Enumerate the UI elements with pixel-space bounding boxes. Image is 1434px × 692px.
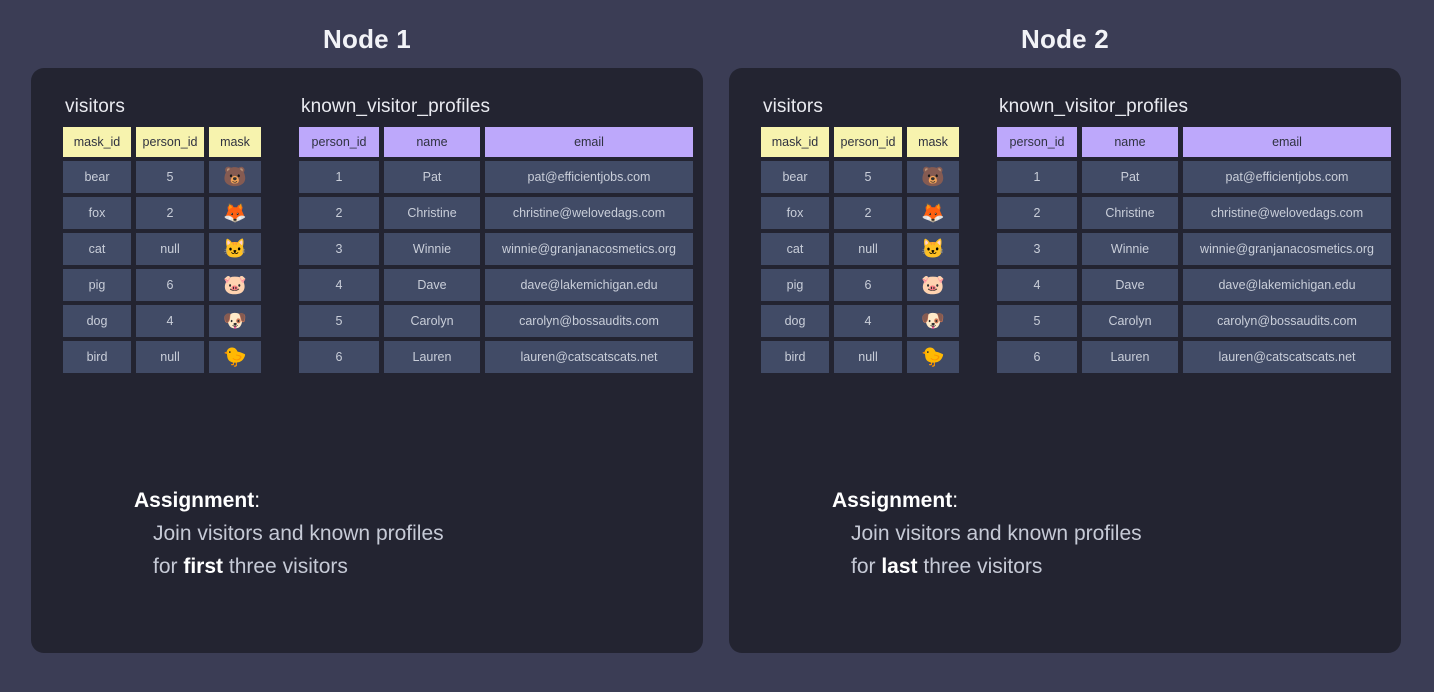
cell-name: Lauren bbox=[1082, 341, 1178, 373]
column-header-person-id: person_id bbox=[136, 127, 204, 157]
cell-mask-id: pig bbox=[761, 269, 829, 301]
cell-mask-id: bird bbox=[63, 341, 131, 373]
table-row: pig 6 🐷 bbox=[63, 269, 261, 301]
table-row: dog 4 🐶 bbox=[761, 305, 959, 337]
known-visitor-profiles-table-1: known_visitor_profiles person_id name em… bbox=[299, 96, 693, 373]
cell-email: lauren@catscatscats.net bbox=[485, 341, 693, 373]
table-row: 4 Dave dave@lakemichigan.edu bbox=[299, 269, 693, 301]
cell-mask-id: cat bbox=[761, 233, 829, 265]
cell-name: Carolyn bbox=[384, 305, 480, 337]
cell-person-id: 6 bbox=[299, 341, 379, 373]
assignment-body-2: Join visitors and known profiles for las… bbox=[832, 517, 1352, 583]
table-row: 3 Winnie winnie@granjanacosmetics.org bbox=[299, 233, 693, 265]
cat-icon: 🐱 bbox=[209, 233, 261, 265]
cell-name: Dave bbox=[384, 269, 480, 301]
assignment-heading-2: Assignment: bbox=[832, 489, 1352, 513]
dog-icon: 🐶 bbox=[209, 305, 261, 337]
cell-person-id: 5 bbox=[834, 161, 902, 193]
column-header-person-id: person_id bbox=[834, 127, 902, 157]
assignment-block-2: Assignment: Join visitors and known prof… bbox=[832, 489, 1352, 583]
assignment-heading-text: Assignment bbox=[832, 489, 952, 512]
table-row: 5 Carolyn carolyn@bossaudits.com bbox=[299, 305, 693, 337]
assignment-line2-before: for bbox=[851, 555, 881, 578]
visitors-caption-1: visitors bbox=[65, 96, 261, 118]
bird-icon: 🐤 bbox=[209, 341, 261, 373]
node-title-2: Node 2 bbox=[729, 24, 1401, 55]
cell-person-id: 6 bbox=[136, 269, 204, 301]
tables-row-1: visitors mask_id person_id mask bear 5 🐻… bbox=[63, 96, 693, 373]
table-row: 3 Winnie winnie@granjanacosmetics.org bbox=[997, 233, 1391, 265]
cell-email: dave@lakemichigan.edu bbox=[1183, 269, 1391, 301]
cell-email: lauren@catscatscats.net bbox=[1183, 341, 1391, 373]
cell-person-id: 4 bbox=[834, 305, 902, 337]
visitors-grid-2: mask_id person_id mask bear 5 🐻 fox 2 🦊 bbox=[761, 127, 959, 373]
cell-person-id: 2 bbox=[834, 197, 902, 229]
cell-person-id: null bbox=[834, 233, 902, 265]
cell-name: Carolyn bbox=[1082, 305, 1178, 337]
cell-mask-id: bear bbox=[63, 161, 131, 193]
cell-mask-id: bear bbox=[761, 161, 829, 193]
cell-name: Pat bbox=[384, 161, 480, 193]
cell-person-id: 5 bbox=[299, 305, 379, 337]
known-visitor-profiles-table-2: known_visitor_profiles person_id name em… bbox=[997, 96, 1391, 373]
visitors-table-1: visitors mask_id person_id mask bear 5 🐻… bbox=[63, 96, 261, 373]
cell-email: pat@efficientjobs.com bbox=[485, 161, 693, 193]
assignment-body-1: Join visitors and known profiles for fir… bbox=[134, 517, 654, 583]
fox-icon: 🦊 bbox=[209, 197, 261, 229]
table-row: 1 Pat pat@efficientjobs.com bbox=[997, 161, 1391, 193]
table-row: cat null 🐱 bbox=[63, 233, 261, 265]
column-header-mask: mask bbox=[209, 127, 261, 157]
cell-name: Winnie bbox=[384, 233, 480, 265]
pig-icon: 🐷 bbox=[209, 269, 261, 301]
visitors-caption-2: visitors bbox=[763, 96, 959, 118]
cell-name: Dave bbox=[1082, 269, 1178, 301]
node-panel-2: visitors mask_id person_id mask bear 5 🐻… bbox=[729, 68, 1401, 653]
node-title-1: Node 1 bbox=[31, 24, 703, 55]
table-row: fox 2 🦊 bbox=[761, 197, 959, 229]
table-row: 2 Christine christine@welovedags.com bbox=[997, 197, 1391, 229]
profiles-grid-2: person_id name email 1 Pat pat@efficient… bbox=[997, 127, 1391, 373]
assignment-line2-emphasis: last bbox=[881, 555, 917, 578]
column-header-name: name bbox=[1082, 127, 1178, 157]
profiles-caption-2: known_visitor_profiles bbox=[999, 96, 1391, 118]
column-header-email: email bbox=[1183, 127, 1391, 157]
cell-person-id: 4 bbox=[997, 269, 1077, 301]
table-header-row: mask_id person_id mask bbox=[761, 127, 959, 157]
table-row: 6 Lauren lauren@catscatscats.net bbox=[299, 341, 693, 373]
cell-email: winnie@granjanacosmetics.org bbox=[485, 233, 693, 265]
table-header-row: person_id name email bbox=[997, 127, 1391, 157]
assignment-line-1: Join visitors and known profiles bbox=[153, 517, 654, 550]
table-row: bear 5 🐻 bbox=[63, 161, 261, 193]
cell-person-id: null bbox=[136, 233, 204, 265]
cell-person-id: 3 bbox=[997, 233, 1077, 265]
cell-person-id: 6 bbox=[834, 269, 902, 301]
table-row: bear 5 🐻 bbox=[761, 161, 959, 193]
cell-mask-id: fox bbox=[63, 197, 131, 229]
diagram-canvas: Node 1 Node 2 visitors mask_id person_id… bbox=[0, 0, 1434, 692]
table-row: fox 2 🦊 bbox=[63, 197, 261, 229]
visitors-table-2: visitors mask_id person_id mask bear 5 🐻… bbox=[761, 96, 959, 373]
cell-person-id: 2 bbox=[299, 197, 379, 229]
table-header-row: mask_id person_id mask bbox=[63, 127, 261, 157]
profiles-caption-1: known_visitor_profiles bbox=[301, 96, 693, 118]
table-row: cat null 🐱 bbox=[761, 233, 959, 265]
cell-name: Christine bbox=[1082, 197, 1178, 229]
cell-name: Lauren bbox=[384, 341, 480, 373]
cell-person-id: 2 bbox=[136, 197, 204, 229]
table-row: 6 Lauren lauren@catscatscats.net bbox=[997, 341, 1391, 373]
table-row: 2 Christine christine@welovedags.com bbox=[299, 197, 693, 229]
bear-icon: 🐻 bbox=[907, 161, 959, 193]
assignment-heading-colon: : bbox=[254, 489, 260, 512]
pig-icon: 🐷 bbox=[907, 269, 959, 301]
assignment-heading-text: Assignment bbox=[134, 489, 254, 512]
cell-email: carolyn@bossaudits.com bbox=[485, 305, 693, 337]
cell-person-id: 4 bbox=[299, 269, 379, 301]
visitors-grid-1: mask_id person_id mask bear 5 🐻 fox 2 🦊 bbox=[63, 127, 261, 373]
column-header-mask: mask bbox=[907, 127, 959, 157]
column-header-email: email bbox=[485, 127, 693, 157]
cell-email: dave@lakemichigan.edu bbox=[485, 269, 693, 301]
assignment-line2-after: three visitors bbox=[918, 555, 1043, 578]
assignment-heading-colon: : bbox=[952, 489, 958, 512]
cell-name: Winnie bbox=[1082, 233, 1178, 265]
cell-mask-id: dog bbox=[761, 305, 829, 337]
column-header-name: name bbox=[384, 127, 480, 157]
cell-mask-id: pig bbox=[63, 269, 131, 301]
assignment-line2-after: three visitors bbox=[223, 555, 348, 578]
tables-row-2: visitors mask_id person_id mask bear 5 🐻… bbox=[761, 96, 1391, 373]
assignment-line-1: Join visitors and known profiles bbox=[851, 517, 1352, 550]
table-row: 4 Dave dave@lakemichigan.edu bbox=[997, 269, 1391, 301]
table-header-row: person_id name email bbox=[299, 127, 693, 157]
cell-person-id: 5 bbox=[997, 305, 1077, 337]
cell-person-id: 4 bbox=[136, 305, 204, 337]
table-row: 1 Pat pat@efficientjobs.com bbox=[299, 161, 693, 193]
assignment-heading-1: Assignment: bbox=[134, 489, 654, 513]
cat-icon: 🐱 bbox=[907, 233, 959, 265]
cell-name: Pat bbox=[1082, 161, 1178, 193]
table-row: dog 4 🐶 bbox=[63, 305, 261, 337]
cell-email: christine@welovedags.com bbox=[485, 197, 693, 229]
cell-mask-id: cat bbox=[63, 233, 131, 265]
bear-icon: 🐻 bbox=[209, 161, 261, 193]
table-row: bird null 🐤 bbox=[63, 341, 261, 373]
cell-person-id: 1 bbox=[997, 161, 1077, 193]
cell-person-id: null bbox=[136, 341, 204, 373]
cell-email: christine@welovedags.com bbox=[1183, 197, 1391, 229]
cell-email: pat@efficientjobs.com bbox=[1183, 161, 1391, 193]
column-header-mask-id: mask_id bbox=[63, 127, 131, 157]
table-row: pig 6 🐷 bbox=[761, 269, 959, 301]
profiles-grid-1: person_id name email 1 Pat pat@efficient… bbox=[299, 127, 693, 373]
column-header-person-id: person_id bbox=[997, 127, 1077, 157]
cell-email: carolyn@bossaudits.com bbox=[1183, 305, 1391, 337]
bird-icon: 🐤 bbox=[907, 341, 959, 373]
assignment-line-2: for last three visitors bbox=[851, 550, 1352, 583]
assignment-line2-emphasis: first bbox=[183, 555, 223, 578]
assignment-block-1: Assignment: Join visitors and known prof… bbox=[134, 489, 654, 583]
cell-person-id: 3 bbox=[299, 233, 379, 265]
cell-person-id: 6 bbox=[997, 341, 1077, 373]
fox-icon: 🦊 bbox=[907, 197, 959, 229]
assignment-line-2: for first three visitors bbox=[153, 550, 654, 583]
cell-person-id: null bbox=[834, 341, 902, 373]
table-row: 5 Carolyn carolyn@bossaudits.com bbox=[997, 305, 1391, 337]
column-header-person-id: person_id bbox=[299, 127, 379, 157]
assignment-line2-before: for bbox=[153, 555, 183, 578]
cell-mask-id: fox bbox=[761, 197, 829, 229]
cell-name: Christine bbox=[384, 197, 480, 229]
column-header-mask-id: mask_id bbox=[761, 127, 829, 157]
table-row: bird null 🐤 bbox=[761, 341, 959, 373]
cell-email: winnie@granjanacosmetics.org bbox=[1183, 233, 1391, 265]
cell-person-id: 1 bbox=[299, 161, 379, 193]
dog-icon: 🐶 bbox=[907, 305, 959, 337]
cell-person-id: 2 bbox=[997, 197, 1077, 229]
cell-mask-id: bird bbox=[761, 341, 829, 373]
cell-mask-id: dog bbox=[63, 305, 131, 337]
node-panel-1: visitors mask_id person_id mask bear 5 🐻… bbox=[31, 68, 703, 653]
cell-person-id: 5 bbox=[136, 161, 204, 193]
